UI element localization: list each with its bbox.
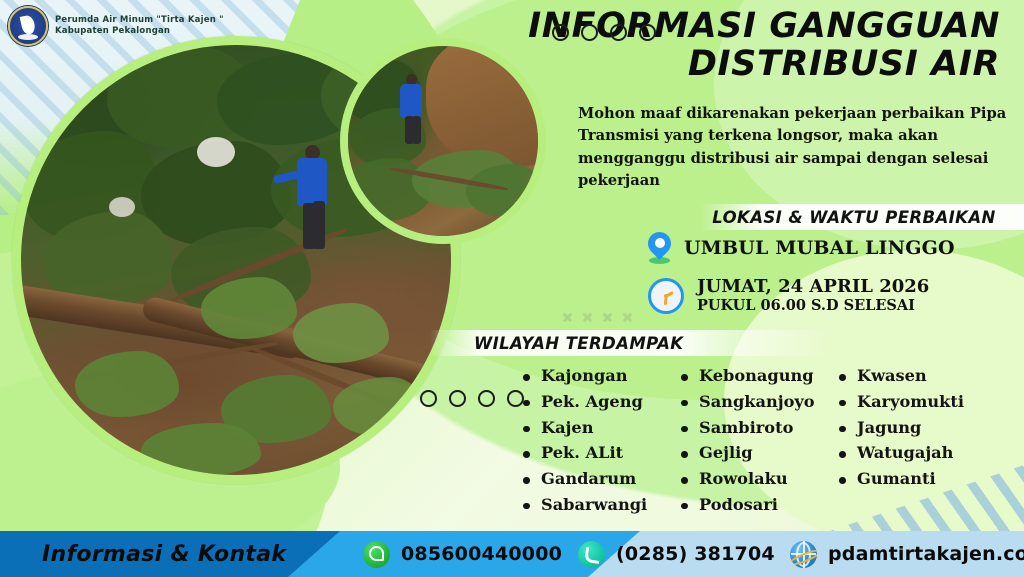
foliage (141, 423, 261, 477)
x-mark-icon (582, 312, 593, 323)
worker-figure (289, 145, 333, 255)
areas-column: KwasenKaryomuktiJagungWatugajahGumanti (836, 366, 994, 521)
area-list-item: Gumanti (836, 469, 994, 489)
whatsapp-number: 085600440000 (401, 543, 562, 565)
poster-canvas: Perumda Air Minum "Tirta Kajen " Kabupat… (0, 0, 1024, 577)
repair-date: JUMAT, 24 APRIL 2026 (697, 277, 929, 297)
repair-time: PUKUL 06.00 S.D SELESAI (697, 297, 929, 314)
website-contact[interactable]: pdamtirtakajen.com (790, 531, 1024, 577)
location-banner: LOKASI & WAKTU PERBAIKAN (700, 204, 1024, 230)
page-title-line-2: DISTRIBUSI AIR (480, 46, 1000, 84)
area-list-item: Rowolaku (678, 469, 836, 489)
time-texts: JUMAT, 24 APRIL 2026 PUKUL 06.00 S.D SEL… (697, 277, 929, 315)
dot-icon (478, 390, 495, 407)
phone-icon (578, 541, 605, 568)
location-row: UMBUL MUBAL LINGGO (648, 232, 955, 264)
area-list-item: Watugajah (836, 443, 994, 463)
worker-figure (396, 74, 426, 144)
areas-column-3: KwasenKaryomuktiJagungWatugajahGumanti (836, 366, 994, 489)
area-list-item: Gejlig (678, 443, 836, 463)
area-list-item: Pek. ALit (520, 443, 678, 463)
intro-text: Mohon maaf dikarenakan pekerjaan perbaik… (578, 103, 1020, 192)
brand-line-2: Kabupaten Pekalongan (55, 26, 224, 37)
decorative-x-marks (562, 312, 633, 323)
intro-paragraph: Mohon maaf dikarenakan pekerjaan perbaik… (578, 103, 1020, 192)
footer-contact-bar: Informasi & Kontak 085600440000 (0285) 3… (0, 531, 1024, 577)
whatsapp-icon (363, 541, 390, 568)
dot-icon (552, 24, 569, 41)
decorative-dots (552, 24, 656, 41)
location-name: UMBUL MUBAL LINGGO (684, 237, 955, 259)
page-title: INFORMASI GANGGUAN DISTRIBUSI AIR (480, 8, 1000, 84)
foliage (293, 303, 389, 363)
area-list-item: Jagung (836, 418, 994, 438)
x-mark-icon (602, 312, 613, 323)
area-list-item: Kwasen (836, 366, 994, 386)
globe-icon (790, 541, 817, 568)
brand-text: Perumda Air Minum "Tirta Kajen " Kabupat… (55, 15, 224, 38)
water-drop-logo-icon (8, 6, 48, 46)
footer-title: Informasi & Kontak (42, 531, 286, 577)
phone-contact[interactable]: (0285) 381704 (578, 531, 775, 577)
dot-icon (420, 390, 437, 407)
dot-icon (639, 24, 656, 41)
debris-light (109, 197, 135, 217)
area-list-item: Podosari (678, 495, 836, 515)
affected-areas-list: KajonganPek. AgengKajenPek. ALitGandarum… (520, 366, 1020, 521)
area-list-item: Gandarum (520, 469, 678, 489)
areas-column-2: KebonagungSangkanjoyoSambirotoGejligRowo… (678, 366, 836, 515)
area-list-item: Kajongan (520, 366, 678, 386)
phone-number: (0285) 381704 (616, 543, 775, 565)
brand-line-1: Perumda Air Minum "Tirta Kajen " (55, 15, 224, 26)
map-pin-icon (648, 232, 671, 264)
location-banner-label: LOKASI & WAKTU PERBAIKAN (712, 208, 996, 227)
area-list-item: Sangkanjoyo (678, 392, 836, 412)
areas-column: KebonagungSangkanjoyoSambirotoGejligRowo… (678, 366, 836, 521)
clock-icon (648, 278, 684, 314)
area-list-item: Sabarwangi (520, 495, 678, 515)
area-list-item: Kebonagung (678, 366, 836, 386)
decorative-dots (420, 390, 524, 407)
brand-logo: Perumda Air Minum "Tirta Kajen " Kabupat… (8, 6, 224, 46)
x-mark-icon (622, 312, 633, 323)
area-list-item: Karyomukti (836, 392, 994, 412)
x-mark-icon (562, 312, 573, 323)
area-list-item: Kajen (520, 418, 678, 438)
affected-areas-banner: WILAYAH TERDAMPAK (430, 330, 834, 356)
areas-column: KajonganPek. AgengKajenPek. ALitGandarum… (520, 366, 678, 521)
debris-light (197, 137, 235, 167)
time-row: JUMAT, 24 APRIL 2026 PUKUL 06.00 S.D SEL… (648, 277, 955, 315)
location-details: UMBUL MUBAL LINGGO JUMAT, 24 APRIL 2026 … (648, 232, 955, 328)
area-list-item: Sambiroto (678, 418, 836, 438)
dot-icon (610, 24, 627, 41)
website-url: pdamtirtakajen.com (828, 543, 1024, 565)
affected-areas-banner-label: WILAYAH TERDAMPAK (474, 334, 683, 353)
areas-column-1: KajonganPek. AgengKajenPek. ALitGandarum… (520, 366, 678, 515)
dot-icon (449, 390, 466, 407)
area-list-item: Pek. Ageng (520, 392, 678, 412)
dot-icon (581, 24, 598, 41)
whatsapp-contact[interactable]: 085600440000 (363, 531, 562, 577)
foliage (75, 351, 179, 417)
